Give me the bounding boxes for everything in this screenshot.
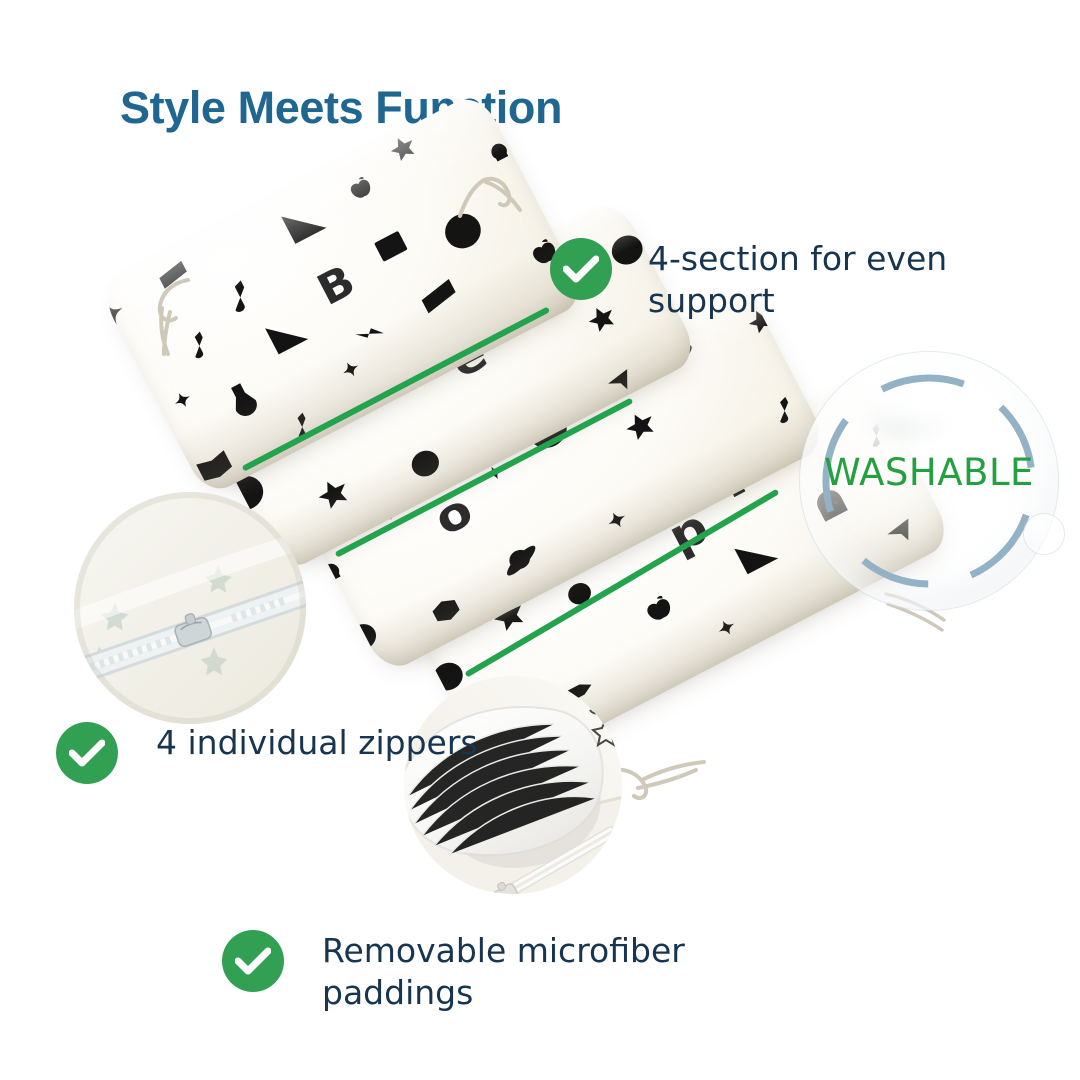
check-icon	[550, 238, 612, 300]
padding-detail-inset	[404, 676, 622, 894]
washable-label: WASHABLE	[800, 451, 1058, 494]
zipper-detail-inset	[74, 492, 306, 724]
infographic-canvas: Style Meets Function	[0, 0, 1080, 1080]
check-icon	[222, 930, 284, 992]
zipper-closeup-icon	[74, 492, 306, 724]
feature-item-padding: Removable microfiber paddings	[222, 930, 742, 1014]
svg-text:B: B	[310, 256, 363, 316]
washable-bubble: WASHABLE	[800, 352, 1058, 610]
feature-label: 4 individual zippers	[156, 722, 556, 764]
tie-string-bottom	[608, 740, 728, 820]
feature-item-sections: 4-section for even support	[550, 238, 993, 322]
small-bubble-icon	[1024, 514, 1064, 554]
feature-item-zippers: 4 individual zippers	[56, 722, 556, 784]
checkmark-glyph	[69, 739, 105, 767]
feature-label: Removable microfiber paddings	[322, 930, 742, 1014]
feature-label: 4-section for even support	[648, 238, 993, 322]
check-icon	[56, 722, 118, 784]
checkmark-glyph	[235, 947, 271, 975]
microfiber-padding-closeup-icon	[404, 676, 622, 894]
checkmark-glyph	[563, 255, 599, 283]
